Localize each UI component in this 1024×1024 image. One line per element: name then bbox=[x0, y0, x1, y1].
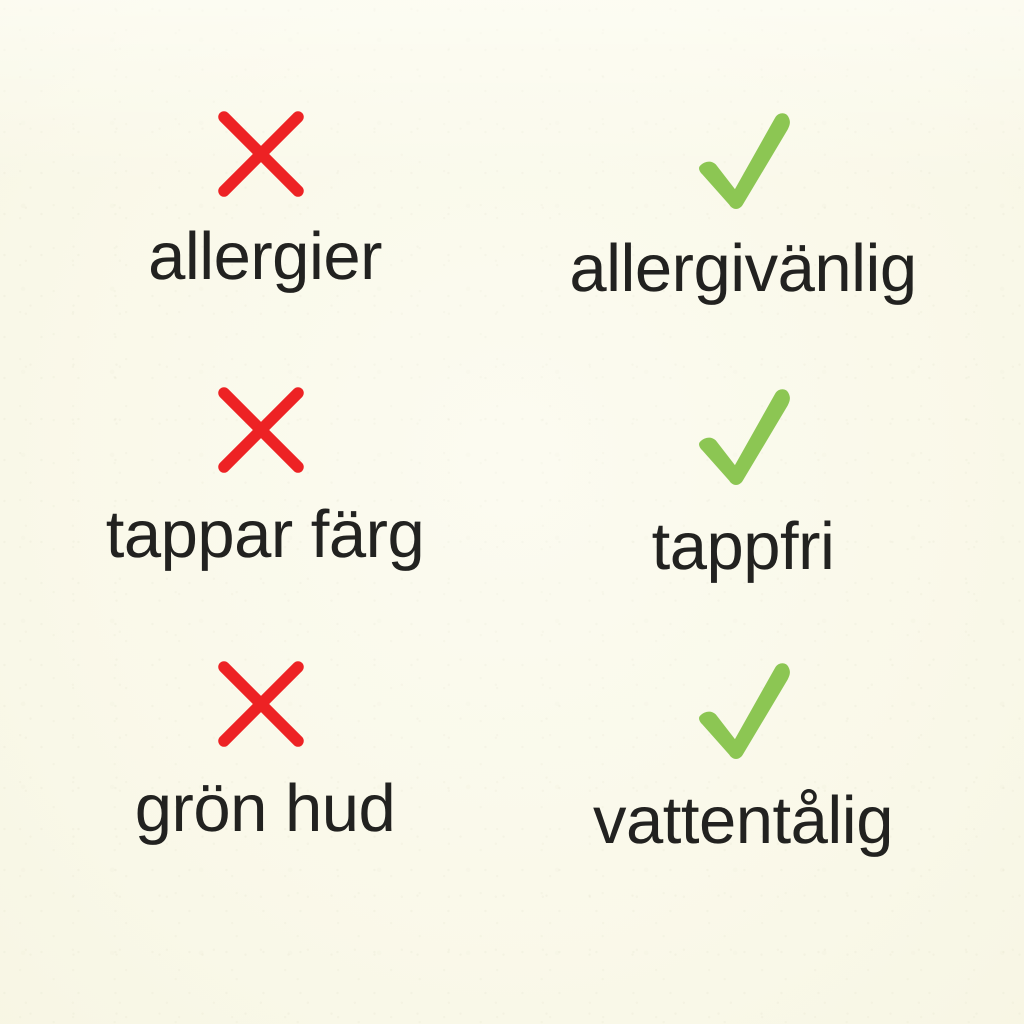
negative-item-1: allergier bbox=[30, 104, 500, 292]
comparison-grid: allergier allergivänlig tappar fä bbox=[0, 0, 1024, 1024]
negative-item-label: tappar färg bbox=[106, 500, 425, 570]
positive-item-2: tappfri bbox=[508, 380, 978, 582]
positive-item-label: allergivänlig bbox=[569, 234, 916, 304]
negative-item-3: grön hud bbox=[30, 654, 500, 844]
cross-icon bbox=[211, 104, 311, 204]
cross-icon bbox=[211, 654, 311, 754]
check-icon bbox=[689, 104, 801, 216]
positive-item-3: vattentålig bbox=[508, 654, 978, 856]
positive-item-label: vattentålig bbox=[593, 786, 893, 856]
negative-item-2: tappar färg bbox=[30, 380, 500, 570]
positive-item-label: tappfri bbox=[652, 512, 835, 582]
positive-item-1: allergivänlig bbox=[508, 104, 978, 304]
check-icon bbox=[689, 380, 801, 492]
negative-item-label: grön hud bbox=[135, 774, 396, 844]
cross-icon bbox=[211, 380, 311, 480]
check-icon bbox=[689, 654, 801, 766]
comparison-infographic: allergier allergivänlig tappar fä bbox=[0, 0, 1024, 1024]
negative-item-label: allergier bbox=[148, 222, 382, 292]
